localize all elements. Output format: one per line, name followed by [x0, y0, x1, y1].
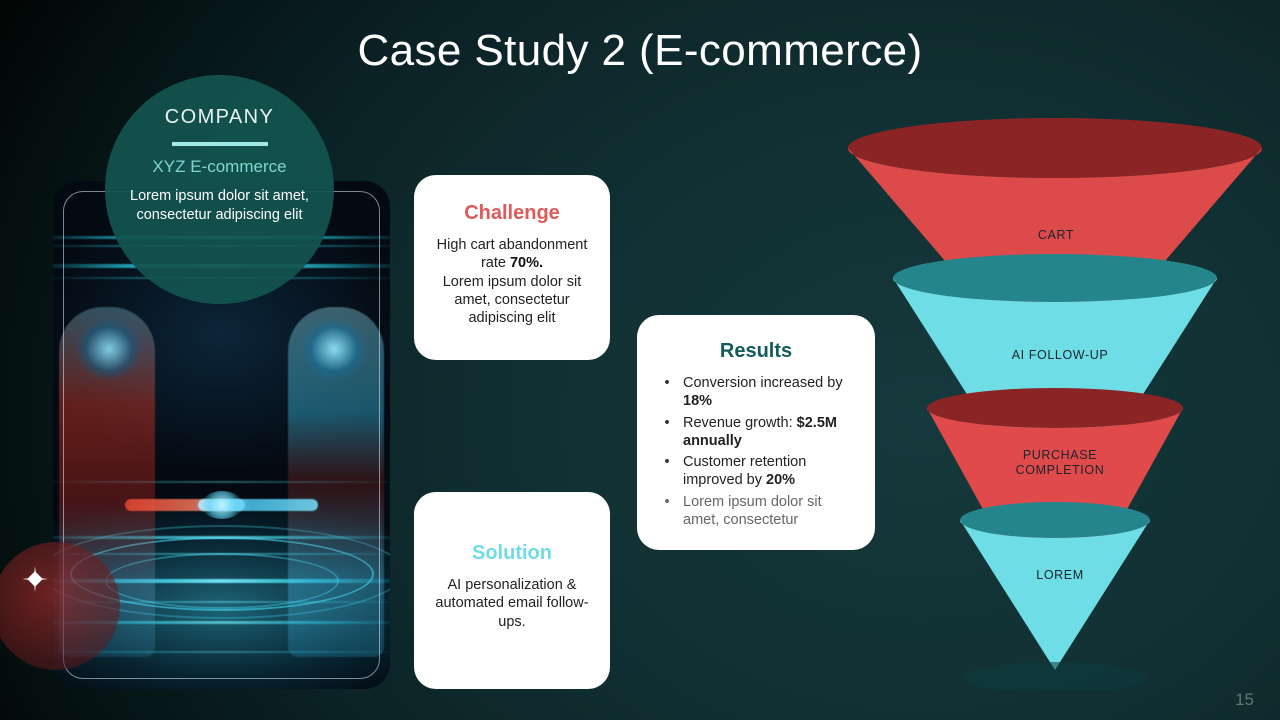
conversion-funnel: CART AI FOLLOW-UP PURCHASE COMPLETION LO…	[845, 110, 1265, 690]
bullet-icon: •	[651, 374, 683, 411]
results-item-text: Lorem ipsum dolor sit amet, consectetur	[683, 493, 861, 530]
company-divider	[172, 142, 268, 146]
bullet-icon: •	[651, 493, 683, 530]
results-list-item: •Conversion increased by 18%	[651, 374, 861, 411]
page-number: 15	[1235, 690, 1254, 710]
results-title: Results	[651, 340, 861, 363]
funnel-stage-cone-lorem	[960, 520, 1150, 670]
page-title: Case Study 2 (E-commerce)	[0, 26, 1280, 76]
results-list-item: •Lorem ipsum dolor sit amet, consectetur	[651, 493, 861, 530]
company-description: Lorem ipsum dolor sit amet, consectetur …	[130, 187, 310, 224]
handshake-glow	[201, 491, 243, 519]
results-item-text: Customer retention improved by 20%	[683, 453, 861, 490]
results-list-item: •Customer retention improved by 20%	[651, 453, 861, 490]
bullet-icon: •	[651, 453, 683, 490]
funnel-label-cart: CART	[976, 228, 1136, 243]
results-item-text: Conversion increased by 18%	[683, 374, 861, 411]
funnel-stage-top-cart	[848, 118, 1262, 178]
company-circle: COMPANY XYZ E-commerce Lorem ipsum dolor…	[105, 75, 334, 304]
funnel-ground-shadow	[963, 662, 1147, 690]
results-list: •Conversion increased by 18%•Revenue gro…	[651, 374, 861, 529]
funnel-label-ai-follow-up: AI FOLLOW-UP	[980, 348, 1140, 363]
sparkle-icon	[22, 566, 48, 592]
funnel-stage-top-ai-follow-up	[893, 254, 1217, 302]
slide: Case Study 2 (E-commerce) COMPANY XYZ E-…	[0, 0, 1280, 720]
results-item-text: Revenue growth: $2.5M annually	[683, 414, 861, 451]
solution-body: AI personalization & automated email fol…	[428, 576, 596, 631]
challenge-card: Challenge High cart abandonment rate 70%…	[414, 175, 610, 360]
challenge-title: Challenge	[428, 202, 596, 225]
company-label: COMPANY	[165, 106, 274, 129]
challenge-body: High cart abandonment rate 70%. Lorem ip…	[428, 236, 596, 327]
funnel-label-lorem: LOREM	[980, 568, 1140, 583]
solution-card: Solution AI personalization & automated …	[414, 492, 610, 689]
robot-right	[288, 307, 384, 657]
bullet-icon: •	[651, 414, 683, 451]
company-name: XYZ E-commerce	[152, 157, 286, 177]
challenge-line1-bold: 70%.	[510, 255, 543, 271]
results-list-item: •Revenue growth: $2.5M annually	[651, 414, 861, 451]
sparkle-core	[27, 571, 43, 587]
challenge-line2: Lorem ipsum dolor sit amet, consectetur …	[443, 274, 582, 327]
results-card: Results •Conversion increased by 18%•Rev…	[637, 315, 875, 550]
funnel-stage-top-purchase-completion	[927, 388, 1183, 428]
funnel-svg	[845, 110, 1265, 690]
funnel-stage-top-lorem	[960, 502, 1150, 538]
solution-title: Solution	[428, 542, 596, 565]
funnel-label-purchase-completion: PURCHASE COMPLETION	[980, 448, 1140, 479]
